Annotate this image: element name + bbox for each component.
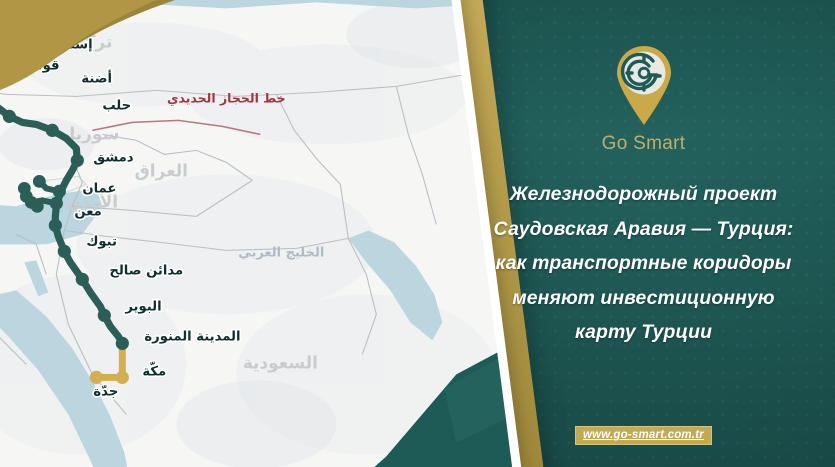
- station-label: إسطنبول: [0, 0, 33, 1]
- headline-line-5: карту Турции: [465, 315, 823, 350]
- headline-line-3: как транспортные коридоры: [465, 246, 823, 281]
- station-marker-green[interactable]: [50, 197, 63, 210]
- headline-line-2: Саудовская Аравия — Турция:: [465, 212, 823, 247]
- sea-label: الخليج العربي: [238, 245, 324, 260]
- station-marker-green[interactable]: [53, 185, 66, 198]
- station-marker-green[interactable]: [76, 273, 89, 286]
- content-panel: Go Smart Железнодорожный проект Саудовск…: [452, 0, 835, 467]
- headline: Железнодорожный проект Саудовская Аравия…: [465, 177, 823, 350]
- station-label: تبوك: [86, 234, 117, 249]
- station-label: عمان: [82, 181, 116, 196]
- station-label: مكّة: [142, 361, 166, 379]
- station-label: حلب: [102, 98, 131, 113]
- headline-line-1: Железнодорожный проект: [465, 177, 823, 212]
- station-label: معن: [74, 204, 101, 219]
- map-card-white-frame: ✕✕✕✕✕✕ تركياسورياالعراقالأردنمصرالسعودية…: [0, 0, 527, 467]
- country-label: سوريا: [69, 124, 119, 144]
- station-label: البوير: [124, 299, 161, 314]
- station-marker-green[interactable]: [49, 219, 62, 232]
- brand-name: Go Smart: [602, 133, 686, 155]
- map-viewport: ✕✕✕✕✕✕ تركياسورياالعراقالأردنمصرالسعودية…: [0, 0, 517, 467]
- station-marker-green[interactable]: [98, 309, 111, 322]
- infographic-canvas: ✕✕✕✕✕✕ تركياسورياالعراقالأردنمصرالسعودية…: [0, 0, 835, 467]
- country-label: العراق: [135, 161, 188, 181]
- station-marker-green[interactable]: [58, 245, 71, 258]
- headline-line-4: меняют инвестиционную: [465, 281, 823, 316]
- station-label: دمشق: [93, 150, 133, 165]
- country-label: السعودية: [243, 353, 318, 373]
- route-node[interactable]: [25, 196, 38, 209]
- route-node[interactable]: [33, 175, 46, 188]
- station-label: قونيا: [27, 58, 59, 73]
- station-marker-green[interactable]: [3, 110, 16, 123]
- station-label: جدّة: [93, 384, 118, 399]
- location-pin-icon: [613, 44, 675, 126]
- station-label: إسكي شهير: [13, 37, 92, 52]
- station-label: مدائن صالح: [109, 263, 183, 278]
- station-marker-green[interactable]: [116, 337, 129, 350]
- station-marker-green[interactable]: [71, 154, 84, 167]
- station-label: المدينة المنورة: [144, 329, 240, 344]
- website-url[interactable]: www.go-smart.com.tr: [575, 426, 712, 445]
- station-label: أضنة: [81, 69, 112, 86]
- railway-line-label: خط الحجاز الحديدي: [167, 90, 286, 105]
- station-marker-gold[interactable]: [116, 371, 129, 384]
- station-marker-green[interactable]: [46, 124, 59, 137]
- map-artwork: ✕✕✕✕✕✕ تركياسورياالعراقالأردنمصرالسعودية…: [0, 0, 516, 467]
- station-marker-gold[interactable]: [90, 371, 103, 384]
- website-bar: www.go-smart.com.tr: [452, 426, 835, 445]
